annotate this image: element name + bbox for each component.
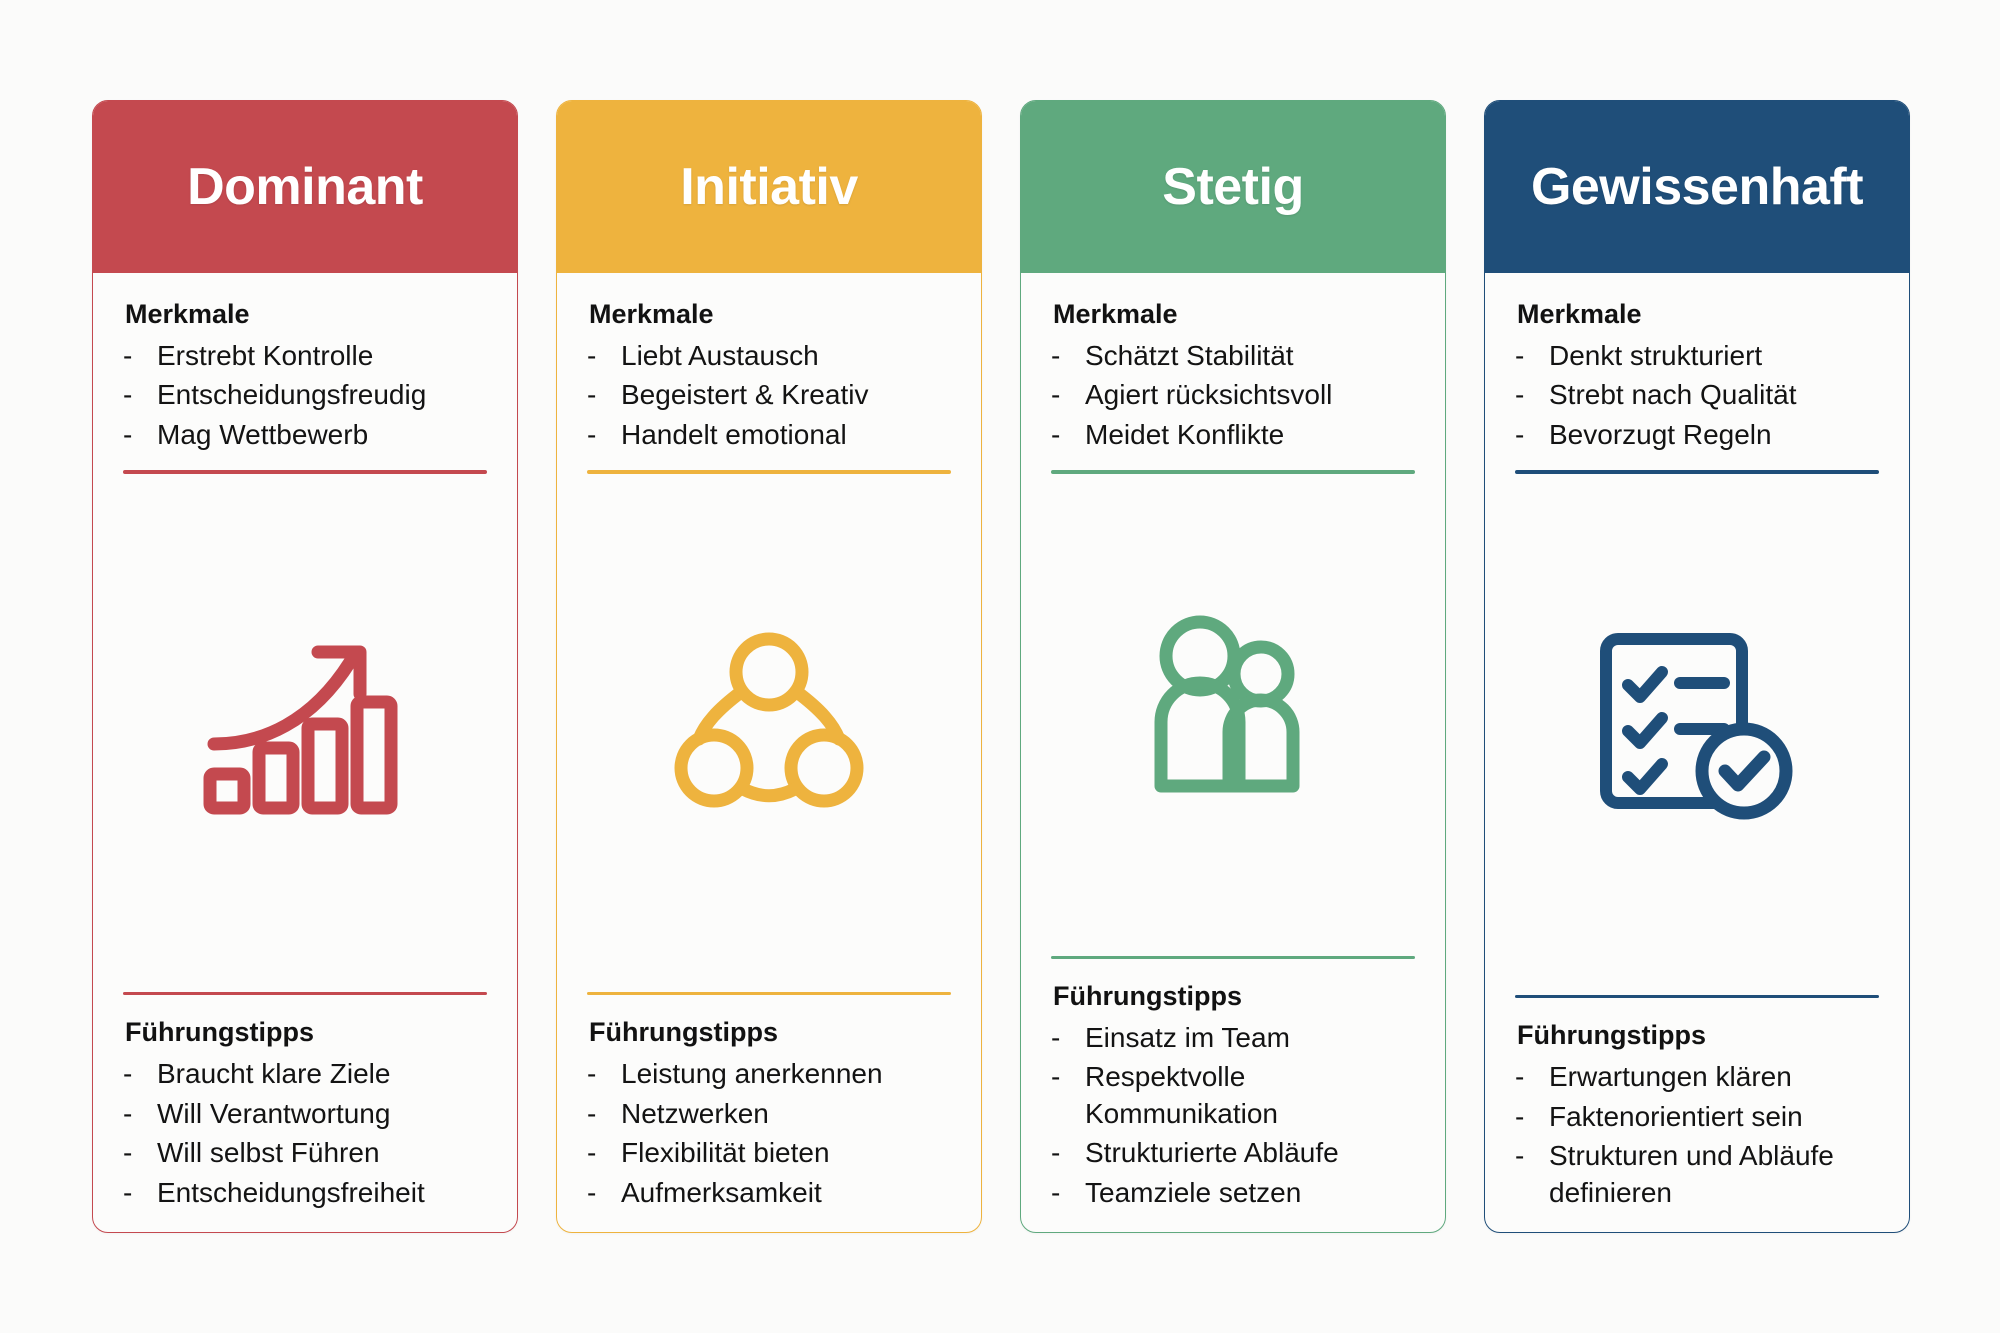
list-item: -Schätzt Stabilität <box>1037 338 1429 374</box>
traits-heading: Merkmale <box>1053 299 1429 330</box>
bullet-dash: - <box>1051 338 1085 374</box>
list-item: -Aufmerksamkeit <box>573 1175 965 1211</box>
list-item-label: Strukturen und Abläufe definieren <box>1549 1138 1893 1211</box>
list-item-label: Netzwerken <box>621 1096 965 1132</box>
list-item: -Strukturierte Abläufe <box>1037 1135 1429 1171</box>
card-body-gewissenhaft: Merkmale -Denkt strukturiert -Strebt nac… <box>1485 273 1909 1232</box>
bullet-dash: - <box>587 417 621 453</box>
traits-heading: Merkmale <box>589 299 965 330</box>
bullet-dash: - <box>1515 1138 1549 1174</box>
list-item: -Strebt nach Qualität <box>1501 377 1893 413</box>
tips-heading: Führungstipps <box>589 1017 965 1048</box>
list-item: -Leistung anerkennen <box>573 1056 965 1092</box>
bullet-dash: - <box>123 417 157 453</box>
list-item: -Braucht klare Ziele <box>109 1056 501 1092</box>
card-initiativ: Initiativ Merkmale -Liebt Austausch -Beg… <box>556 100 982 1233</box>
list-item: -Mag Wettbewerb <box>109 417 501 453</box>
list-item: -Begeistert & Kreativ <box>573 377 965 413</box>
card-header-stetig: Stetig <box>1021 101 1445 273</box>
list-item-label: Will Verantwortung <box>157 1096 501 1132</box>
list-item: -Entscheidungsfreudig <box>109 377 501 413</box>
list-item-label: Respektvolle Kommunikation <box>1085 1059 1429 1132</box>
bullet-dash: - <box>587 1056 621 1092</box>
list-item: -Flexibilität bieten <box>573 1135 965 1171</box>
traits-list: -Liebt Austausch -Begeistert & Kreativ -… <box>573 338 965 456</box>
list-item: -Faktenorientiert sein <box>1501 1099 1893 1135</box>
card-body-dominant: Merkmale -Erstrebt Kontrolle -Entscheidu… <box>93 273 517 1232</box>
list-item-label: Meidet Konflikte <box>1085 417 1429 453</box>
list-item-label: Begeistert & Kreativ <box>621 377 965 413</box>
traits-heading: Merkmale <box>125 299 501 330</box>
tips-list: -Einsatz im Team -Respektvolle Kommunika… <box>1037 1020 1429 1211</box>
list-item-label: Leistung anerkennen <box>621 1056 965 1092</box>
list-item-label: Denkt strukturiert <box>1549 338 1893 374</box>
card-title: Gewissenhaft <box>1531 161 1863 213</box>
bullet-dash: - <box>587 377 621 413</box>
tips-list: -Leistung anerkennen -Netzwerken -Flexib… <box>573 1056 965 1211</box>
card-body-initiativ: Merkmale -Liebt Austausch -Begeistert & … <box>557 273 981 1232</box>
tips-zone: Führungstipps -Einsatz im Team -Respektv… <box>1037 959 1429 1214</box>
card-title: Stetig <box>1162 161 1303 213</box>
list-item-label: Flexibilität bieten <box>621 1135 965 1171</box>
traits-list: -Erstrebt Kontrolle -Entscheidungsfreudi… <box>109 338 501 456</box>
tips-heading: Führungstipps <box>125 1017 501 1048</box>
bullet-dash: - <box>1515 417 1549 453</box>
list-item-label: Strebt nach Qualität <box>1549 377 1893 413</box>
list-item-label: Will selbst Führen <box>157 1135 501 1171</box>
card-stetig: Stetig Merkmale -Schätzt Stabilität -Agi… <box>1020 100 1446 1233</box>
icon-zone <box>1501 474 1893 981</box>
bullet-dash: - <box>123 377 157 413</box>
list-item-label: Entscheidungsfreiheit <box>157 1175 501 1211</box>
bullet-dash: - <box>1515 377 1549 413</box>
bullet-dash: - <box>587 1175 621 1211</box>
list-item: -Strukturen und Abläufe definieren <box>1501 1138 1893 1211</box>
card-dominant: Dominant Merkmale -Erstrebt Kontrolle -E… <box>92 100 518 1233</box>
bullet-dash: - <box>1515 1099 1549 1135</box>
list-item: -Entscheidungsfreiheit <box>109 1175 501 1211</box>
list-item-label: Braucht klare Ziele <box>157 1056 501 1092</box>
bullet-dash: - <box>587 338 621 374</box>
card-title: Dominant <box>187 161 423 213</box>
tips-heading: Führungstipps <box>1053 981 1429 1012</box>
list-item-label: Liebt Austausch <box>621 338 965 374</box>
list-item: -Netzwerken <box>573 1096 965 1132</box>
icon-zone <box>573 474 965 978</box>
bullet-dash: - <box>123 1175 157 1211</box>
bullet-dash: - <box>1051 1135 1085 1171</box>
bullet-dash: - <box>1515 338 1549 374</box>
list-item: -Teamziele setzen <box>1037 1175 1429 1211</box>
bullet-dash: - <box>587 1135 621 1171</box>
list-item-label: Erwartungen klären <box>1549 1059 1893 1095</box>
card-gewissenhaft: Gewissenhaft Merkmale -Denkt strukturier… <box>1484 100 1910 1233</box>
list-item: -Meidet Konflikte <box>1037 417 1429 453</box>
bullet-dash: - <box>123 1135 157 1171</box>
list-item-label: Entscheidungsfreudig <box>157 377 501 413</box>
bullet-dash: - <box>1051 1059 1085 1095</box>
list-item: -Will Verantwortung <box>109 1096 501 1132</box>
list-item: -Einsatz im Team <box>1037 1020 1429 1056</box>
card-header-initiativ: Initiativ <box>557 101 981 273</box>
list-item-label: Teamziele setzen <box>1085 1175 1429 1211</box>
disg-profile-board: Dominant Merkmale -Erstrebt Kontrolle -E… <box>0 0 2000 1333</box>
traits-list: -Schätzt Stabilität -Agiert rücksichtsvo… <box>1037 338 1429 456</box>
bullet-dash: - <box>1051 1175 1085 1211</box>
tips-zone: Führungstipps -Erwartungen klären -Fakte… <box>1501 998 1893 1214</box>
list-item: -Denkt strukturiert <box>1501 338 1893 374</box>
list-item: -Will selbst Führen <box>109 1135 501 1171</box>
growth-chart-icon <box>200 626 410 826</box>
bullet-dash: - <box>1051 417 1085 453</box>
tips-list: -Erwartungen klären -Faktenorientiert se… <box>1501 1059 1893 1211</box>
list-item: -Erstrebt Kontrolle <box>109 338 501 374</box>
list-item-label: Faktenorientiert sein <box>1549 1099 1893 1135</box>
list-item: -Handelt emotional <box>573 417 965 453</box>
list-item: -Agiert rücksichtsvoll <box>1037 377 1429 413</box>
tips-zone: Führungstipps -Braucht klare Ziele -Will… <box>109 995 501 1214</box>
tips-heading: Führungstipps <box>1517 1020 1893 1051</box>
list-item-label: Strukturierte Abläufe <box>1085 1135 1429 1171</box>
bullet-dash: - <box>1515 1059 1549 1095</box>
card-header-gewissenhaft: Gewissenhaft <box>1485 101 1909 273</box>
list-item: -Erwartungen klären <box>1501 1059 1893 1095</box>
list-item-label: Aufmerksamkeit <box>621 1175 965 1211</box>
bullet-dash: - <box>1051 377 1085 413</box>
bullet-dash: - <box>123 1056 157 1092</box>
list-item-label: Mag Wettbewerb <box>157 417 501 453</box>
bullet-dash: - <box>587 1096 621 1132</box>
two-people-icon <box>1133 608 1333 808</box>
card-body-stetig: Merkmale -Schätzt Stabilität -Agiert rüc… <box>1021 273 1445 1232</box>
card-title: Initiativ <box>680 161 858 213</box>
bullet-dash: - <box>123 338 157 374</box>
collaboration-circles-icon <box>669 626 869 826</box>
list-item-label: Bevorzugt Regeln <box>1549 417 1893 453</box>
traits-heading: Merkmale <box>1517 299 1893 330</box>
list-item: -Liebt Austausch <box>573 338 965 374</box>
list-item-label: Handelt emotional <box>621 417 965 453</box>
traits-list: -Denkt strukturiert -Strebt nach Qualitä… <box>1501 338 1893 456</box>
list-item-label: Schätzt Stabilität <box>1085 338 1429 374</box>
icon-zone <box>109 474 501 978</box>
checklist-check-icon <box>1592 627 1802 827</box>
list-item-label: Einsatz im Team <box>1085 1020 1429 1056</box>
bullet-dash: - <box>123 1096 157 1132</box>
list-item: -Respektvolle Kommunikation <box>1037 1059 1429 1132</box>
list-item: -Bevorzugt Regeln <box>1501 417 1893 453</box>
list-item-label: Erstrebt Kontrolle <box>157 338 501 374</box>
bullet-dash: - <box>1051 1020 1085 1056</box>
card-header-dominant: Dominant <box>93 101 517 273</box>
icon-zone <box>1037 474 1429 942</box>
list-item-label: Agiert rücksichtsvoll <box>1085 377 1429 413</box>
tips-zone: Führungstipps -Leistung anerkennen -Netz… <box>573 995 965 1214</box>
tips-list: -Braucht klare Ziele -Will Verantwortung… <box>109 1056 501 1211</box>
